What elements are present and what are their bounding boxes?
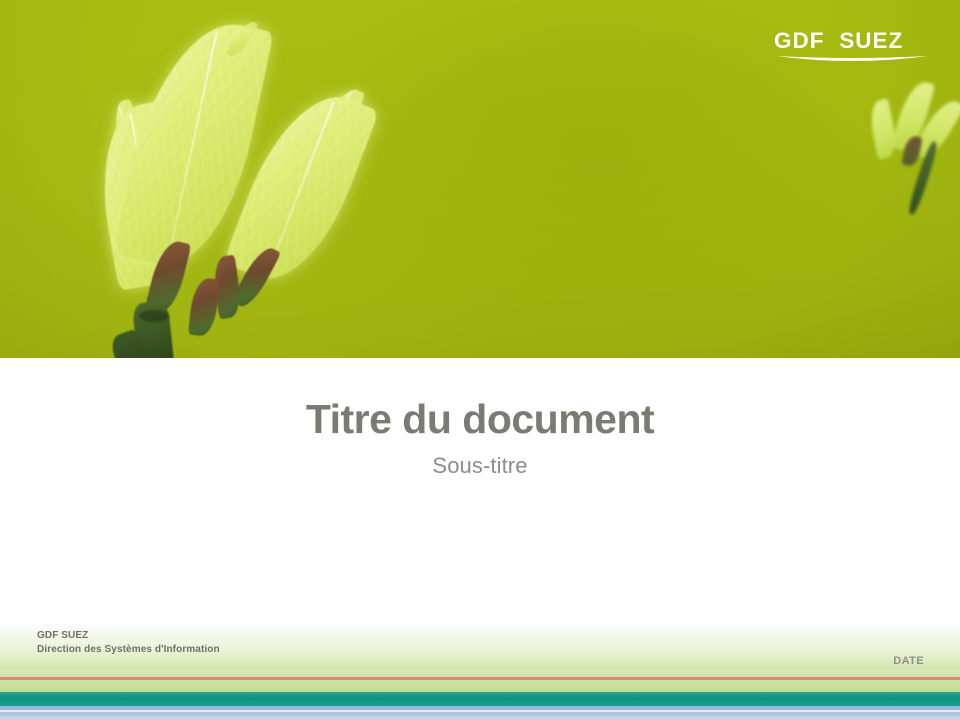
leaf-cluster-photo	[95, 10, 395, 358]
band-teal	[0, 692, 960, 706]
footer-department: Direction des Systèmes d'Information	[37, 643, 220, 657]
page-title: Titre du document	[0, 398, 960, 441]
background-sprig	[856, 78, 960, 278]
band-green-top	[0, 670, 960, 677]
band-green	[0, 680, 960, 692]
title-block: Titre du document Sous-titre	[0, 398, 960, 479]
page-subtitle: Sous-titre	[0, 453, 960, 479]
stem-node	[139, 310, 169, 322]
svg-text:SUEZ: SUEZ	[839, 28, 903, 53]
footer-company: GDF SUEZ	[37, 629, 220, 643]
title-slide: GDF SUEZ Titre du document Sous-titre GD…	[0, 0, 960, 720]
band-lavender	[0, 716, 960, 720]
gdf-suez-logo-icon: GDF SUEZ	[772, 26, 932, 66]
footer-identity: GDF SUEZ Direction des Systèmes d'Inform…	[37, 629, 220, 656]
svg-text:GDF: GDF	[774, 28, 824, 53]
bottom-color-bands	[0, 670, 960, 720]
leaf-bud	[188, 277, 220, 337]
footer-date: DATE	[893, 655, 924, 667]
hero-banner: GDF SUEZ	[0, 0, 960, 358]
